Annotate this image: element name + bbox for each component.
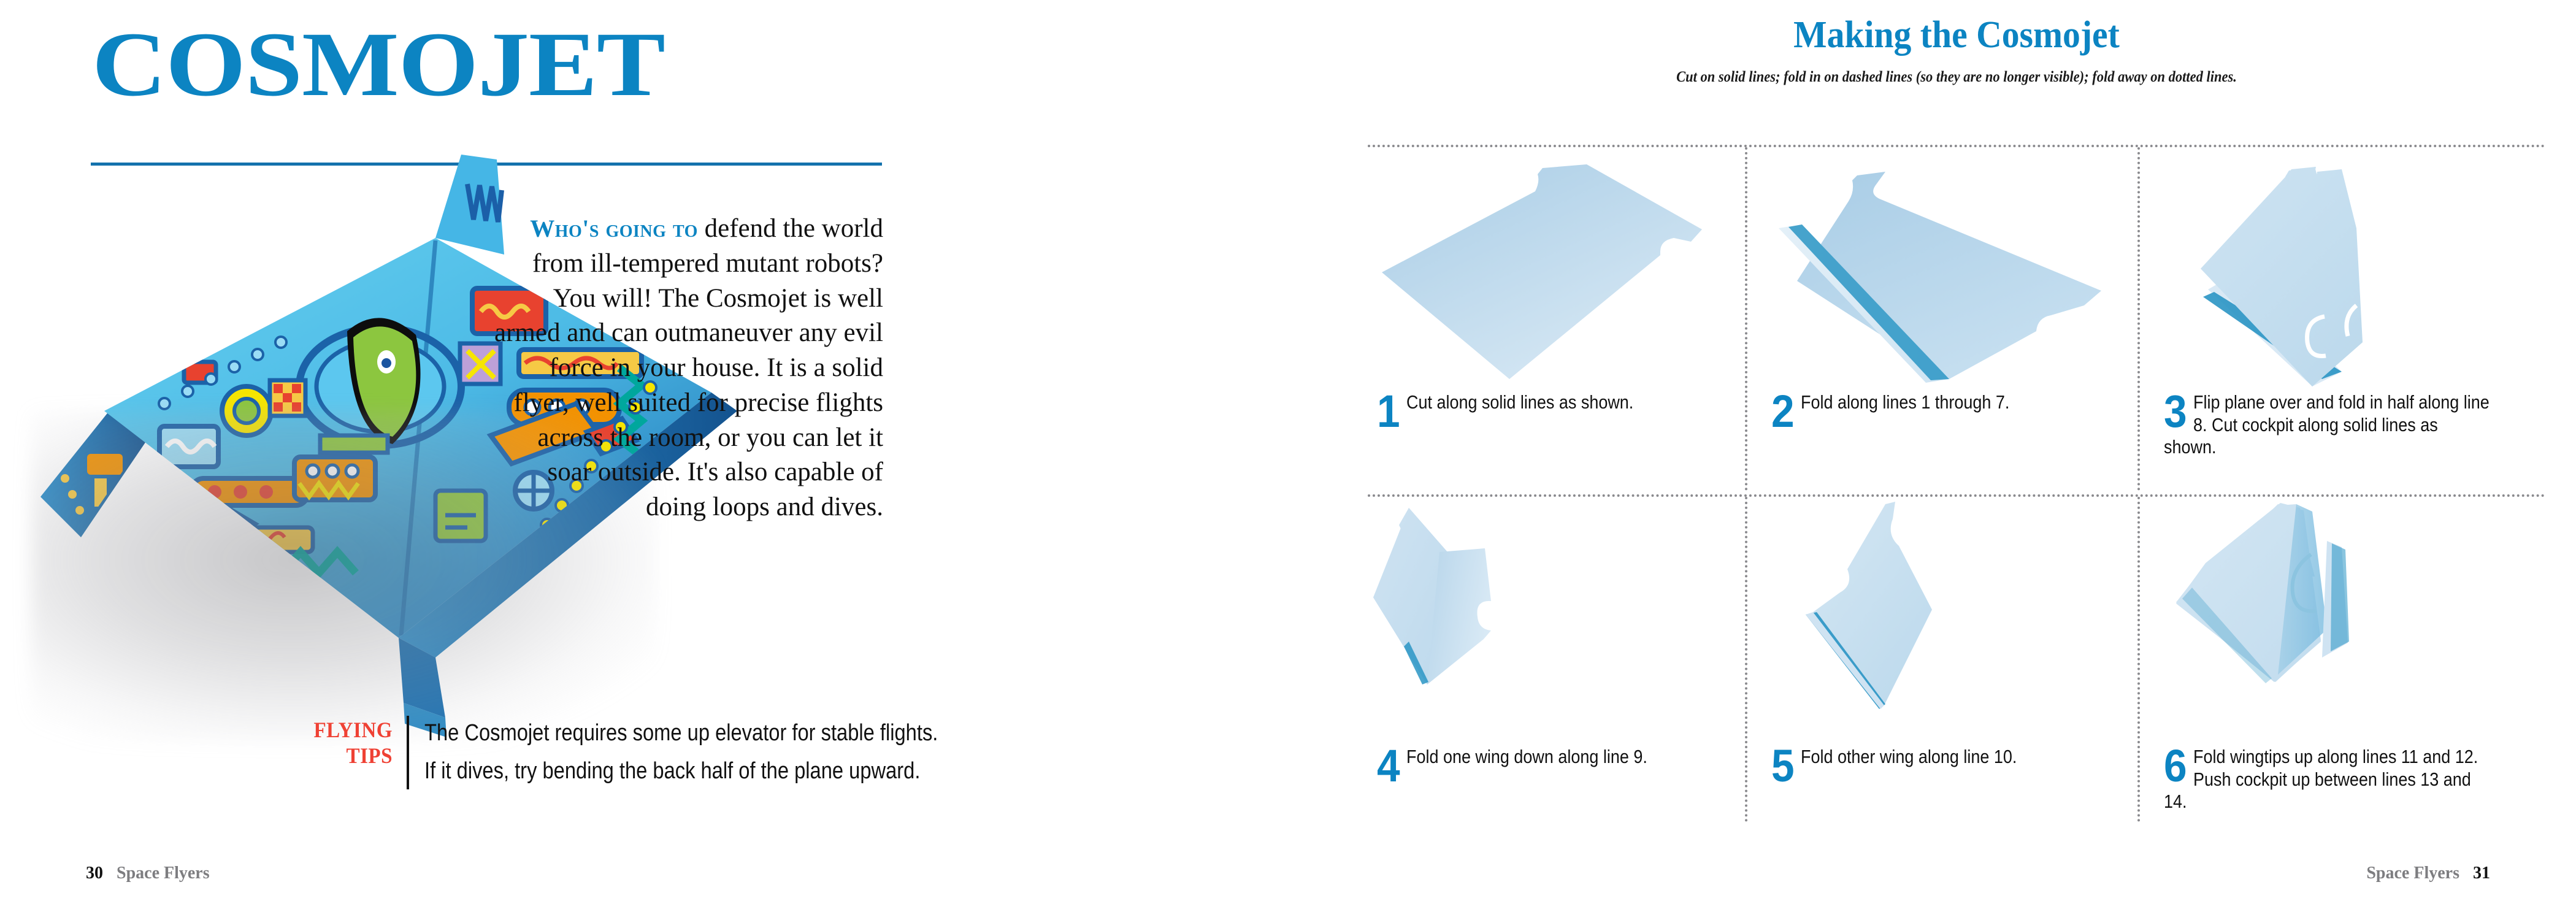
left-page: COSMOJET <box>0 0 1337 920</box>
step-3-caption: 3Flip plane over and fold in half along … <box>2164 391 2492 459</box>
step-2-illustration <box>1765 151 2158 390</box>
flying-tip-1: The Cosmojet requires some up elevator f… <box>424 715 962 753</box>
intro-paragraph: Who's going to defend the world from ill… <box>491 212 883 525</box>
step-2-caption: 2Fold along lines 1 through 7. <box>1771 391 2099 429</box>
step-3-text: Flip plane over and fold in half along l… <box>2164 391 2490 458</box>
flying-tips-label: FLYING TIPS <box>246 717 393 769</box>
step-6-illustration <box>2158 500 2550 740</box>
book-spread: COSMOJET <box>0 0 2576 920</box>
footer-right: Space Flyers31 <box>2366 864 2490 883</box>
step-4: 4Fold one wing down along line 9. <box>1371 500 1763 847</box>
step-2-number: 2 <box>1771 394 1795 429</box>
page-number-left: 30 <box>86 864 103 883</box>
step-1-text: Cut along solid lines as shown. <box>1406 391 1633 413</box>
step-3: 3Flip plane over and fold in half along … <box>2158 151 2550 497</box>
intro-paragraph-text: defend the world from ill-tempered mutan… <box>494 214 883 521</box>
flying-tips-text: The Cosmojet requires some up elevator f… <box>424 715 962 790</box>
step-6: 6Fold wingtips up along lines 11 and 12.… <box>2158 500 2550 847</box>
step-4-caption: 4Fold one wing down along line 9. <box>1377 746 1705 784</box>
step-5-number: 5 <box>1771 748 1795 784</box>
book-title-right: Space Flyers <box>2366 864 2459 883</box>
step5-body <box>1813 502 1932 705</box>
page-number-right: 31 <box>2473 864 2490 883</box>
lead-in-text: Who's going to <box>530 215 698 242</box>
step-3-illustration <box>2158 151 2550 390</box>
step-1-illustration <box>1371 151 1763 390</box>
footer-left: 30Space Flyers <box>86 864 210 883</box>
horizontal-dotted-divider-top <box>1368 145 2545 147</box>
book-title-left: Space Flyers <box>117 864 210 883</box>
step-6-caption: 6Fold wingtips up along lines 11 and 12.… <box>2164 746 2492 813</box>
step-6-text: Fold wingtips up along lines 11 and 12. … <box>2164 746 2478 812</box>
step-5: 5Fold other wing along line 10. <box>1765 500 2158 847</box>
step-1: 1Cut along solid lines as shown. <box>1371 151 1763 497</box>
flying-tips-label-line1: FLYING <box>313 718 393 742</box>
step-1-caption: 1Cut along solid lines as shown. <box>1377 391 1705 429</box>
right-page: Making the Cosmojet Cut on solid lines; … <box>1337 0 2576 920</box>
step-5-caption: 5Fold other wing along line 10. <box>1771 746 2099 784</box>
step-6-number: 6 <box>2164 748 2187 784</box>
step-4-text: Fold one wing down along line 9. <box>1406 746 1647 767</box>
step-5-text: Fold other wing along line 10. <box>1801 746 2017 767</box>
step-4-illustration <box>1371 500 1763 740</box>
instructions-subheading: Cut on solid lines; fold in on dashed li… <box>1399 69 2514 86</box>
flying-tip-2: If it dives, try bending the back half o… <box>424 753 962 791</box>
step-2: 2Fold along lines 1 through 7. <box>1765 151 2158 497</box>
flat-sheet-shape <box>1382 164 1702 379</box>
step-4-number: 4 <box>1377 748 1400 784</box>
flying-tips-label-line2: TIPS <box>347 743 393 768</box>
instructions-heading: Making the Cosmojet <box>1381 13 2533 57</box>
page-title: COSMOJET <box>92 18 665 110</box>
step-3-number: 3 <box>2164 394 2187 429</box>
step-1-number: 1 <box>1377 394 1400 429</box>
step-2-text: Fold along lines 1 through 7. <box>1801 391 2009 413</box>
step-5-illustration <box>1765 500 2158 740</box>
flying-tips-block: FLYING TIPS The Cosmojet requires some u… <box>233 715 1061 807</box>
flying-tips-divider <box>407 716 409 789</box>
